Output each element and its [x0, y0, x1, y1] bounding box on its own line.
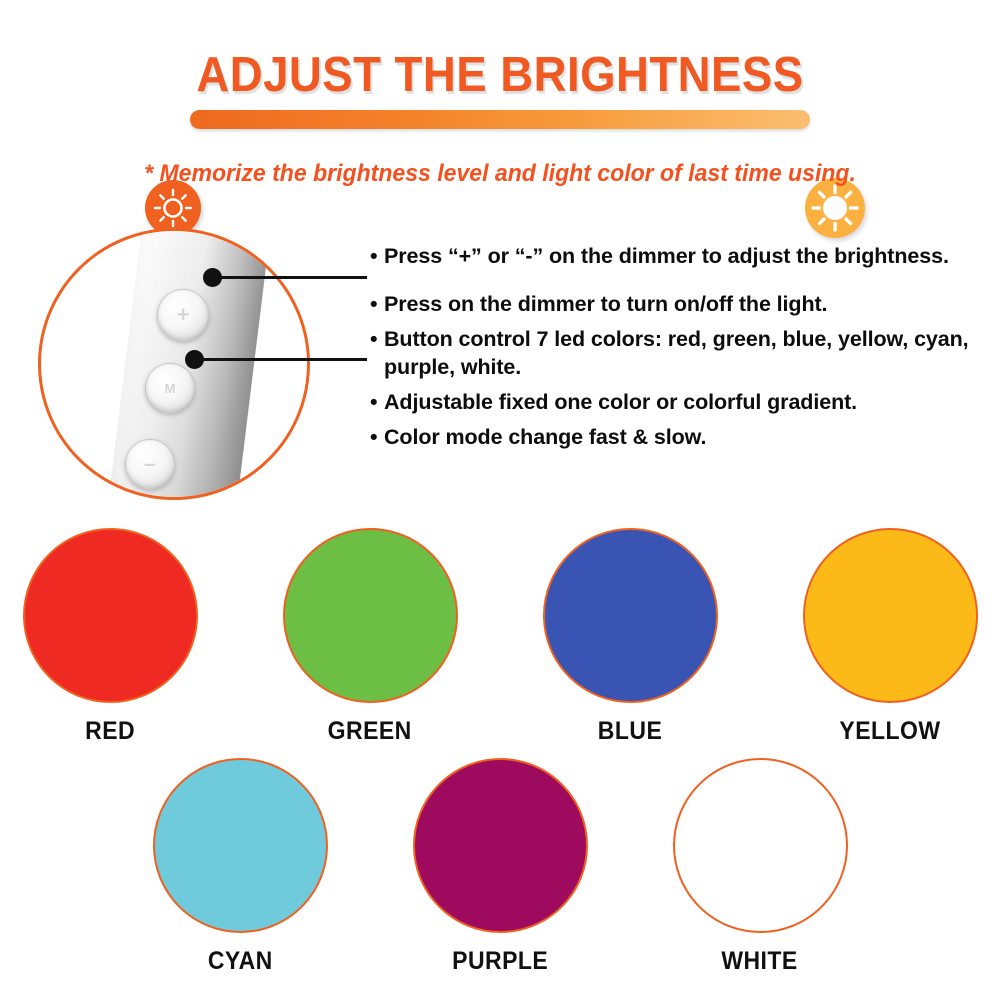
color-disc: [543, 528, 718, 703]
list-item-label: Adjustable fixed one color or colorful g…: [384, 389, 982, 417]
feature-list: • Press “+” or “-” on the dimmer to adju…: [370, 243, 982, 452]
list-item-label: Press “+” or “-” on the dimmer to adjust…: [384, 243, 982, 271]
color-swatch-row-1: RED GREEN BLUE YELLOW: [0, 528, 1000, 746]
infographic-page: ADJUST THE BRIGHTNESS: [0, 0, 1000, 1000]
color-label: CYAN: [208, 947, 273, 976]
color-swatch-purple[interactable]: PURPLE: [413, 758, 588, 976]
color-label: PURPLE: [452, 947, 548, 976]
color-swatch-cyan[interactable]: CYAN: [153, 758, 328, 976]
color-label: BLUE: [598, 717, 662, 746]
color-swatch-row-2: CYAN PURPLE WHITE: [0, 758, 1000, 976]
list-item: • Button control 7 led colors: red, gree…: [370, 326, 982, 382]
list-item-label: Press on the dimmer to turn on/off the l…: [384, 291, 982, 319]
bullet-marker: •: [370, 389, 384, 417]
brightness-slider-bar[interactable]: [190, 110, 810, 129]
brightness-slider-row: [0, 95, 1000, 155]
list-item: • Press on the dimmer to turn on/off the…: [370, 291, 982, 319]
mode-button[interactable]: M: [145, 363, 195, 413]
color-disc: [23, 528, 198, 703]
color-label: GREEN: [328, 717, 412, 746]
color-swatch-green[interactable]: GREEN: [283, 528, 458, 746]
color-label: WHITE: [722, 947, 798, 976]
bullet-marker: •: [370, 424, 384, 452]
list-item-label: Color mode change fast & slow.: [384, 424, 982, 452]
bullet-marker: •: [370, 243, 384, 271]
bullet-marker: •: [370, 326, 384, 382]
color-swatch-yellow[interactable]: YELLOW: [803, 528, 978, 746]
list-item-label: Button control 7 led colors: red, green,…: [384, 326, 982, 382]
color-swatch-blue[interactable]: BLUE: [543, 528, 718, 746]
color-disc: [153, 758, 328, 933]
color-label: RED: [85, 717, 135, 746]
list-item: • Press “+” or “-” on the dimmer to adju…: [370, 243, 982, 271]
remote-photo-frame: + M –: [38, 228, 310, 500]
bullet-marker: •: [370, 291, 384, 319]
subtitle-note: * Memorize the brightness level and ligh…: [20, 160, 980, 188]
color-disc: [283, 528, 458, 703]
callout-line-mode: [194, 358, 367, 361]
color-swatch-red[interactable]: RED: [23, 528, 198, 746]
callout-line-plus: [212, 276, 367, 279]
color-label: YELLOW: [839, 717, 940, 746]
list-item: • Adjustable fixed one color or colorful…: [370, 389, 982, 417]
header: ADJUST THE BRIGHTNESS: [0, 0, 1000, 150]
plus-icon: +: [158, 290, 208, 340]
minus-icon: –: [126, 440, 174, 488]
minus-button[interactable]: –: [125, 439, 175, 489]
color-swatch-white[interactable]: WHITE: [673, 758, 848, 976]
color-disc: [803, 528, 978, 703]
mode-icon: M: [146, 364, 194, 412]
list-item: • Color mode change fast & slow.: [370, 424, 982, 452]
color-disc: [413, 758, 588, 933]
color-disc: [673, 758, 848, 933]
plus-button[interactable]: +: [157, 289, 209, 341]
